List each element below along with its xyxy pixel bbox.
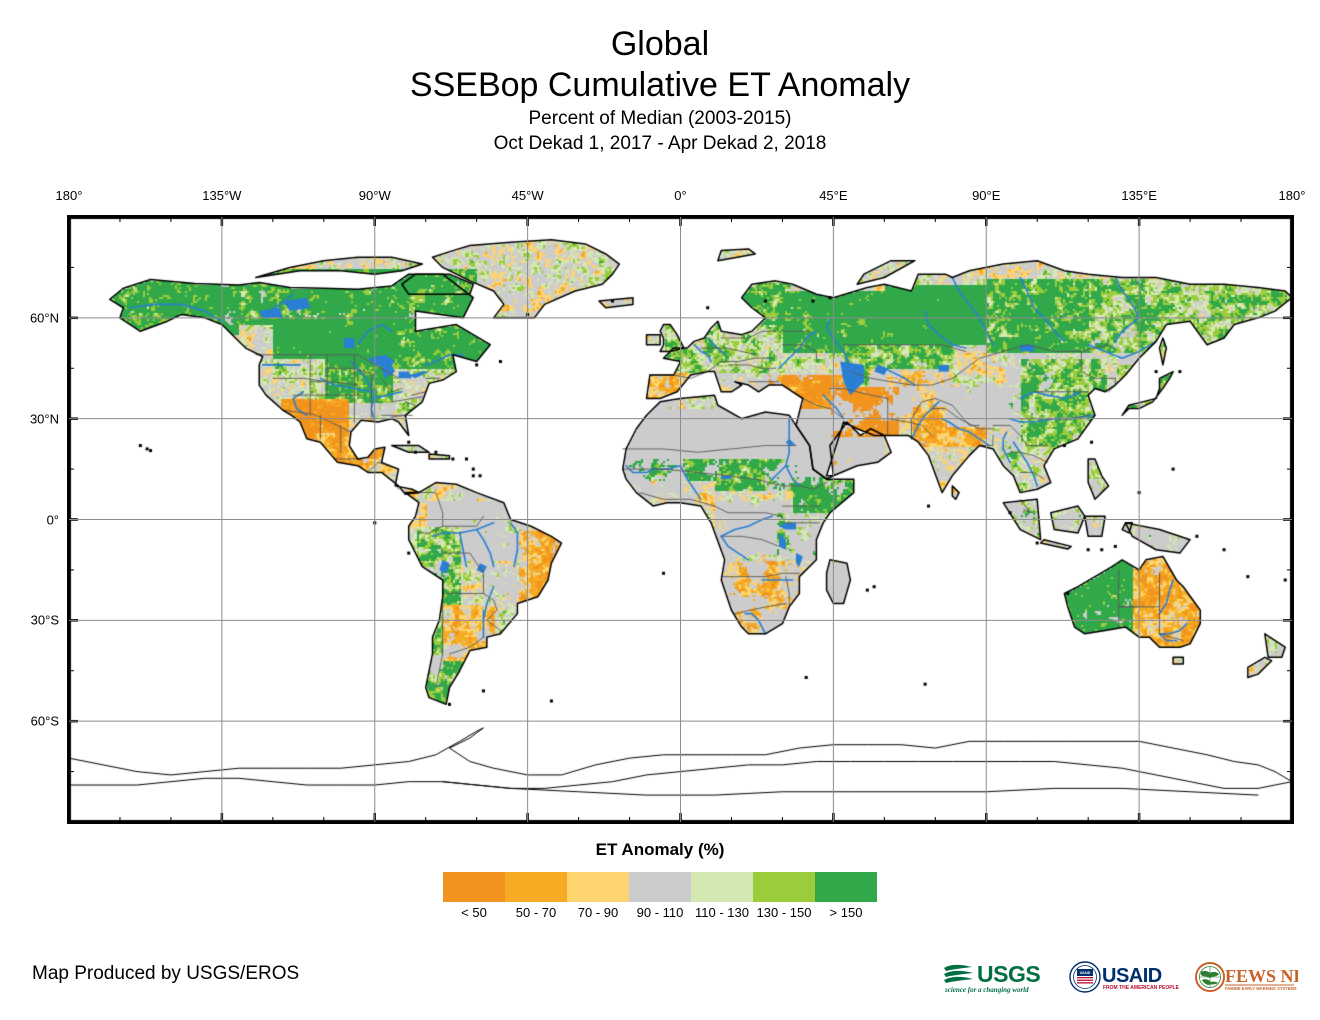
svg-text:USAID: USAID — [1102, 965, 1162, 987]
logo-strip: USGS science for a changing world USAID — [942, 955, 1298, 1001]
usaid-logo[interactable]: USAID USAID FROM THE AMERICAN PEOPLE — [1068, 957, 1180, 999]
svg-text:FEWS NET: FEWS NET — [1225, 966, 1298, 986]
legend-label-5: 130 - 150 — [753, 905, 815, 920]
lon-label-4: 0° — [674, 188, 686, 203]
map-page: Global SSEBop Cumulative ET Anomaly Perc… — [0, 0, 1320, 1020]
lat-label-0: 60°N — [9, 310, 59, 325]
legend-swatch-6 — [815, 872, 877, 902]
legend-swatch-5 — [753, 872, 815, 902]
lon-label-8: 180° — [1279, 188, 1306, 203]
lat-label-4: 60°S — [9, 714, 59, 729]
title-block: Global SSEBop Cumulative ET Anomaly Perc… — [0, 24, 1320, 156]
legend-labels: < 5050 - 7070 - 9090 - 110110 - 130130 -… — [443, 905, 877, 920]
map-credit: Map Produced by USGS/EROS — [32, 963, 299, 985]
legend-label-1: 50 - 70 — [505, 905, 567, 920]
lon-label-5: 45°E — [819, 188, 847, 203]
usaid-seal-icon: USAID — [1070, 962, 1100, 992]
lon-label-7: 135°E — [1121, 188, 1157, 203]
lon-label-0: 180° — [56, 188, 83, 203]
usgs-logo-graphic: USGS science for a changing world — [942, 958, 1054, 998]
legend-label-6: > 150 — [815, 905, 877, 920]
lon-label-6: 90°E — [972, 188, 1000, 203]
lon-label-2: 90°W — [359, 188, 391, 203]
svg-text:FAMINE EARLY WARNING SYSTEMS N: FAMINE EARLY WARNING SYSTEMS NETWORK — [1225, 986, 1298, 991]
fews-globe-icon — [1196, 963, 1224, 991]
lon-label-3: 45°W — [512, 188, 544, 203]
map-frame — [67, 215, 1294, 824]
legend-swatch-2 — [567, 872, 629, 902]
page-title-line2: SSEBop Cumulative ET Anomaly — [0, 64, 1320, 106]
map-graticule — [69, 217, 1292, 822]
page-title-line1: Global — [0, 24, 1320, 64]
lat-label-1: 30°N — [9, 411, 59, 426]
lat-label-2: 0° — [9, 512, 59, 527]
usaid-logo-graphic: USAID USAID FROM THE AMERICAN PEOPLE — [1068, 958, 1180, 998]
legend-title: ET Anomaly (%) — [0, 840, 1320, 860]
legend-label-4: 110 - 130 — [691, 905, 753, 920]
legend-swatch-1 — [505, 872, 567, 902]
legend-color-bar — [443, 872, 877, 902]
lat-label-3: 30°S — [9, 613, 59, 628]
legend-label-2: 70 - 90 — [567, 905, 629, 920]
legend-swatch-0 — [443, 872, 505, 902]
legend-label-0: < 50 — [443, 905, 505, 920]
legend-swatch-3 — [629, 872, 691, 902]
svg-text:FROM THE AMERICAN PEOPLE: FROM THE AMERICAN PEOPLE — [1103, 985, 1180, 991]
fews-net-logo[interactable]: FEWS NET FAMINE EARLY WARNING SYSTEMS NE… — [1194, 957, 1298, 999]
svg-text:USGS: USGS — [977, 961, 1040, 987]
svg-text:science for a changing world: science for a changing world — [944, 986, 1029, 994]
fews-net-logo-graphic: FEWS NET FAMINE EARLY WARNING SYSTEMS NE… — [1194, 958, 1298, 998]
map-container[interactable]: 180°135°W90°W45°W0°45°E90°E135°E180°60°N… — [67, 215, 1294, 824]
svg-text:USAID: USAID — [1080, 971, 1091, 975]
legend-label-3: 90 - 110 — [629, 905, 691, 920]
usgs-logo[interactable]: USGS science for a changing world — [942, 957, 1054, 999]
page-subtitle-period: Percent of Median (2003-2015) — [0, 106, 1320, 131]
legend: ET Anomaly (%) < 5050 - 7070 - 9090 - 11… — [0, 840, 1320, 920]
legend-swatch-4 — [691, 872, 753, 902]
page-subtitle-dates: Oct Dekad 1, 2017 - Apr Dekad 2, 2018 — [0, 131, 1320, 156]
lon-label-1: 135°W — [202, 188, 241, 203]
